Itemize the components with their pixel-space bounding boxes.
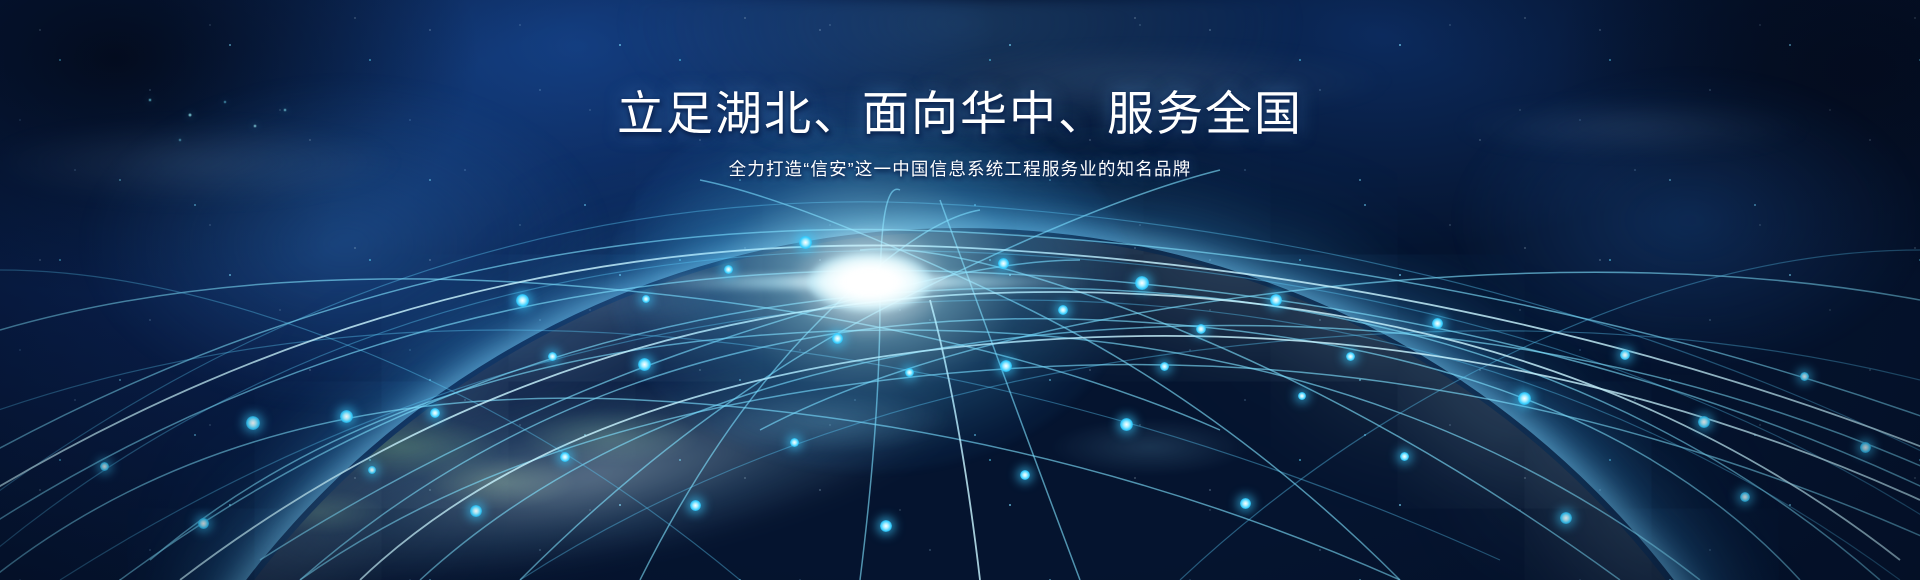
banner-headline: 立足湖北、面向华中、服务全国 — [0, 86, 1920, 141]
network-node — [832, 333, 843, 344]
network-node — [1240, 498, 1251, 509]
network-node — [1020, 470, 1030, 480]
network-node — [1400, 452, 1409, 461]
network-node — [1120, 418, 1133, 431]
banner-subheadline: 全力打造“信安”这一中国信息系统工程服务业的知名品牌 — [0, 157, 1920, 182]
network-node — [724, 265, 733, 274]
network-node — [1560, 512, 1572, 524]
network-node — [560, 452, 570, 462]
network-node — [638, 358, 651, 371]
network-node — [1135, 276, 1149, 290]
network-node — [368, 466, 376, 474]
network-node — [340, 410, 353, 423]
network-node — [246, 416, 260, 430]
network-node — [100, 462, 109, 471]
network-node — [430, 408, 440, 418]
network-node — [642, 295, 650, 303]
network-node — [1620, 350, 1630, 360]
network-node — [1196, 324, 1206, 334]
network-node — [1740, 492, 1750, 502]
network-node — [1000, 360, 1012, 372]
banner-copy: 立足湖北、面向华中、服务全国 全力打造“信安”这一中国信息系统工程服务业的知名品… — [0, 86, 1920, 182]
network-node — [1698, 416, 1710, 428]
network-node — [1800, 372, 1809, 381]
network-node — [1432, 318, 1443, 329]
network-node — [1058, 305, 1068, 315]
network-node — [548, 352, 557, 361]
network-node — [198, 518, 209, 529]
network-node — [1298, 392, 1306, 400]
network-node — [1518, 392, 1531, 405]
network-node — [470, 505, 482, 517]
network-node — [799, 236, 812, 249]
hero-banner: 立足湖北、面向华中、服务全国 全力打造“信安”这一中国信息系统工程服务业的知名品… — [0, 0, 1920, 580]
network-node — [905, 368, 914, 377]
network-node — [880, 520, 892, 532]
network-node — [1160, 362, 1169, 371]
core-hotspot — [808, 252, 932, 312]
network-node — [1860, 442, 1871, 453]
network-node — [690, 500, 701, 511]
network-node — [516, 294, 529, 307]
network-node — [998, 258, 1009, 269]
network-node — [790, 438, 799, 447]
network-node — [1346, 352, 1355, 361]
network-node — [1270, 294, 1282, 306]
